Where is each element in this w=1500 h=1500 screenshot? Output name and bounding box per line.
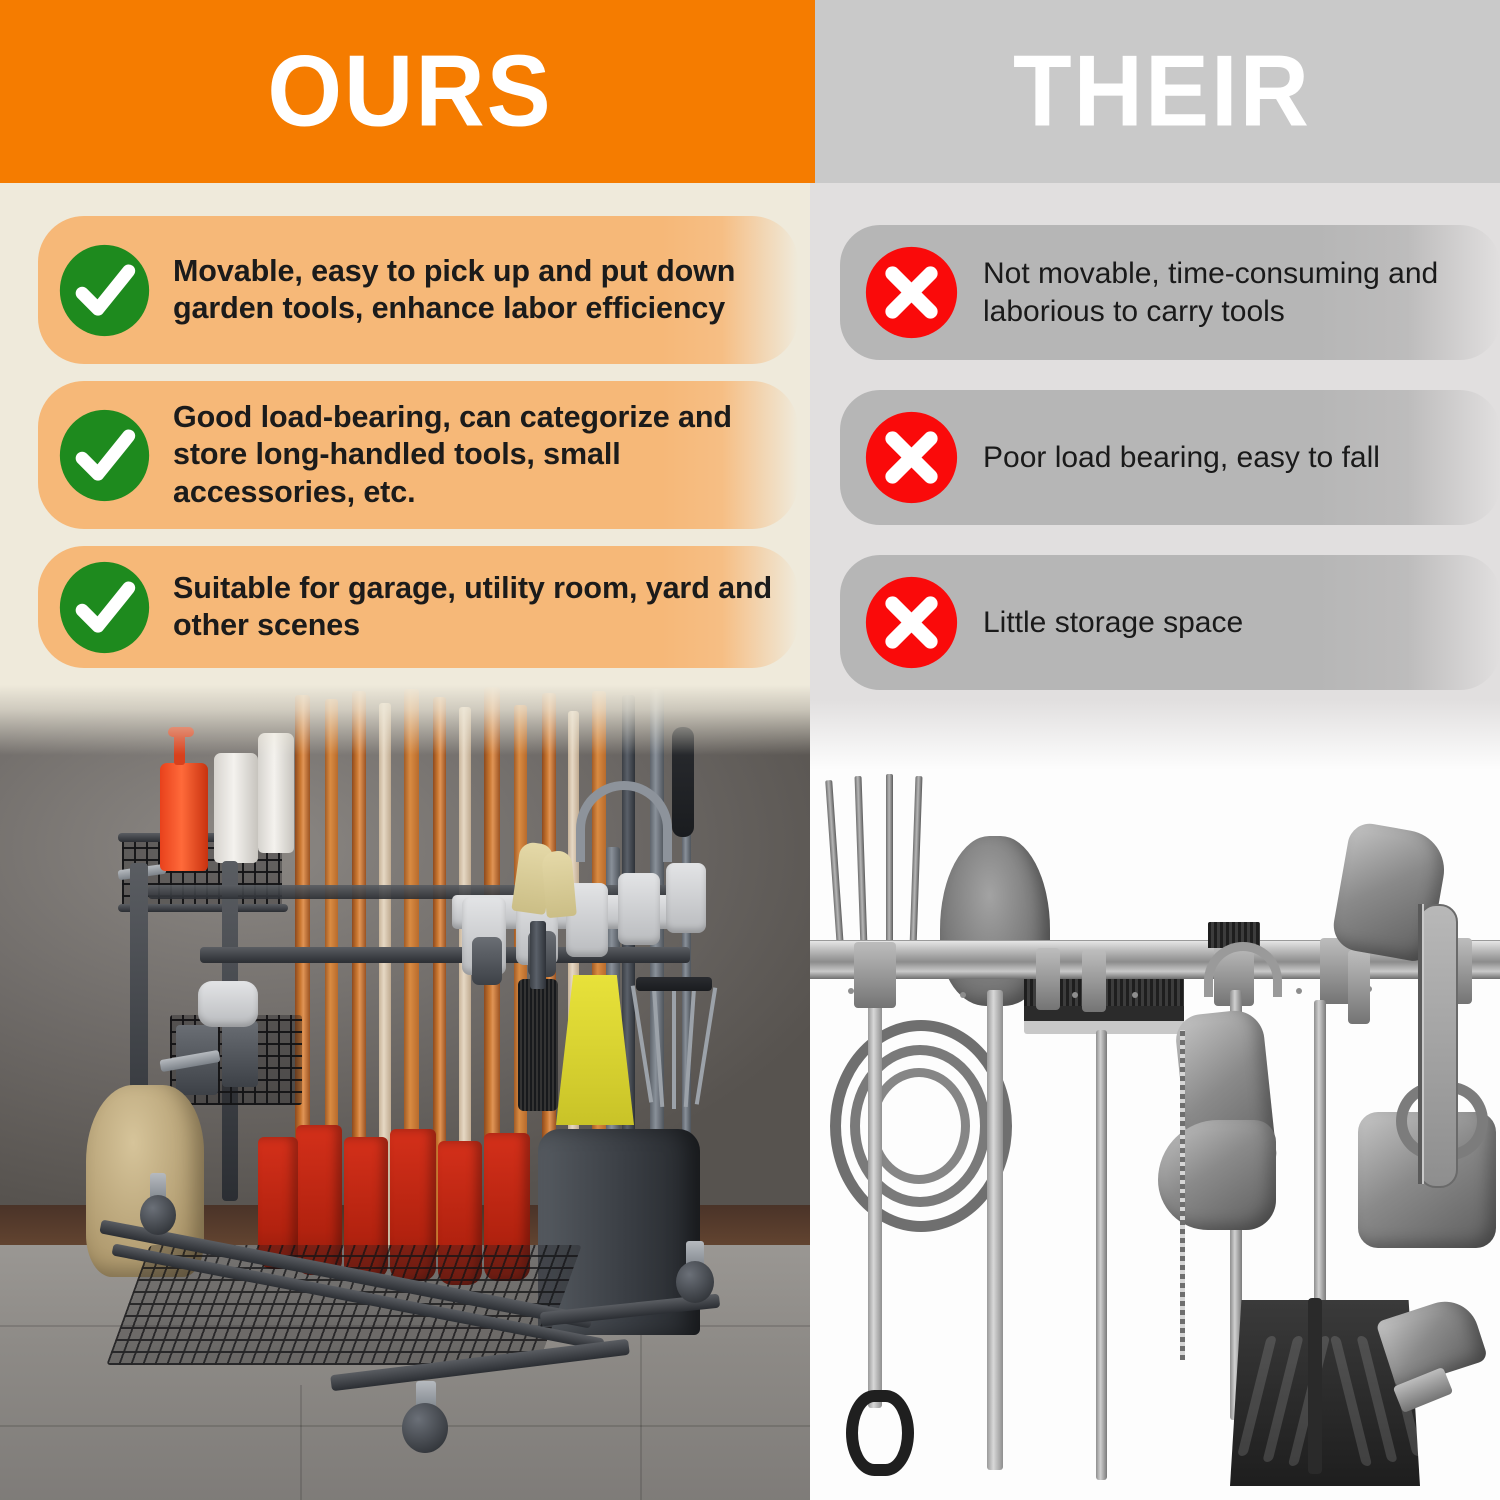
ours-column: OURS Movable, easy to pick up and put do… — [0, 0, 810, 1500]
their-title: THEIR — [1013, 41, 1311, 142]
chainsaw-bar — [1418, 904, 1458, 1188]
leaf-blower — [1158, 1120, 1276, 1230]
comparison-infographic: OURS Movable, easy to pick up and put do… — [0, 0, 1500, 1500]
their-header: THEIR — [810, 0, 1500, 183]
check-icon — [58, 560, 151, 655]
ours-bullet-3: Suitable for garage, utility room, yard … — [38, 546, 798, 668]
their-column: THEIR Not movable, time-consuming and la… — [810, 0, 1500, 1500]
their-bullet-1-text: Not movable, time-consuming and laboriou… — [983, 255, 1500, 330]
ours-header: OURS — [0, 0, 810, 183]
ours-bullet-2: Good load-bearing, can categorize and st… — [38, 381, 798, 529]
d-grip-handle — [846, 1390, 914, 1476]
x-icon — [864, 245, 959, 340]
orange-edge-accent — [810, 0, 815, 183]
ours-bullet-list: Movable, easy to pick up and put down ga… — [0, 183, 810, 668]
their-bullet-list: Not movable, time-consuming and laboriou… — [810, 183, 1500, 690]
ours-title: OURS — [267, 41, 552, 142]
their-bullet-3-text: Little storage space — [983, 604, 1243, 642]
ours-product-photo — [0, 685, 810, 1500]
check-icon — [58, 243, 151, 338]
ours-bullet-3-text: Suitable for garage, utility room, yard … — [173, 570, 798, 644]
x-icon — [864, 575, 959, 670]
ours-bullet-1-text: Movable, easy to pick up and put down ga… — [173, 253, 798, 327]
photo-top-fade — [0, 685, 810, 755]
their-bullet-3: Little storage space — [840, 555, 1500, 690]
their-bullet-2: Poor load bearing, easy to fall — [840, 390, 1500, 525]
ours-bullet-1: Movable, easy to pick up and put down ga… — [38, 216, 798, 364]
their-bullet-2-text: Poor load bearing, easy to fall — [983, 439, 1380, 477]
photo-top-fade — [810, 700, 1500, 770]
ours-bullet-2-text: Good load-bearing, can categorize and st… — [173, 399, 798, 511]
their-product-photo — [810, 700, 1500, 1500]
their-bullet-1: Not movable, time-consuming and laboriou… — [840, 225, 1500, 360]
check-icon — [58, 408, 151, 503]
x-icon — [864, 410, 959, 505]
